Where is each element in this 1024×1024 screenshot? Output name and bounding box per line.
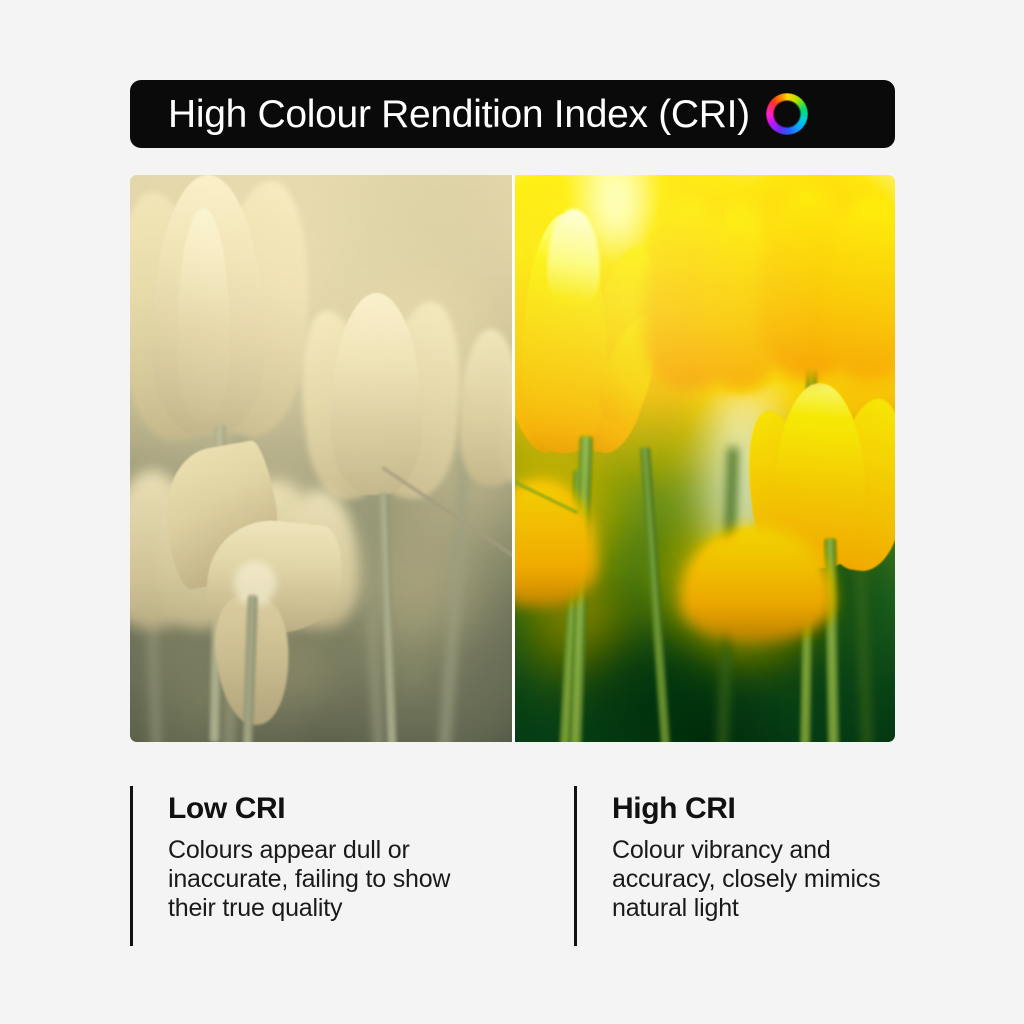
low-cri-colour-grade-overlay xyxy=(130,175,513,742)
colour-wheel-ring-glyph xyxy=(766,93,808,135)
page-title: High Colour Rendition Index (CRI) xyxy=(168,95,750,134)
high-cri-caption: High CRI Colour vibrancy and accuracy, c… xyxy=(574,786,895,946)
low-cri-caption-title: Low CRI xyxy=(168,794,574,824)
low-cri-caption: Low CRI Colours appear dull or inaccurat… xyxy=(130,786,574,946)
header-bar: High Colour Rendition Index (CRI) xyxy=(130,80,895,148)
caption-rule xyxy=(574,786,577,946)
high-cri-caption-body: Colour vibrancy and accuracy, closely mi… xyxy=(612,836,895,923)
caption-row: Low CRI Colours appear dull or inaccurat… xyxy=(130,786,895,946)
low-cri-photo-half xyxy=(130,175,513,742)
colour-wheel-ring-icon xyxy=(764,91,810,137)
caption-rule xyxy=(130,786,133,946)
comparison-split-divider xyxy=(512,175,515,742)
cri-comparison-image xyxy=(130,175,895,742)
low-cri-caption-body: Colours appear dull or inaccurate, faili… xyxy=(168,836,498,923)
high-cri-caption-title: High CRI xyxy=(612,794,895,824)
high-cri-colour-grade-overlay xyxy=(513,175,895,742)
high-cri-photo-half xyxy=(513,175,895,742)
